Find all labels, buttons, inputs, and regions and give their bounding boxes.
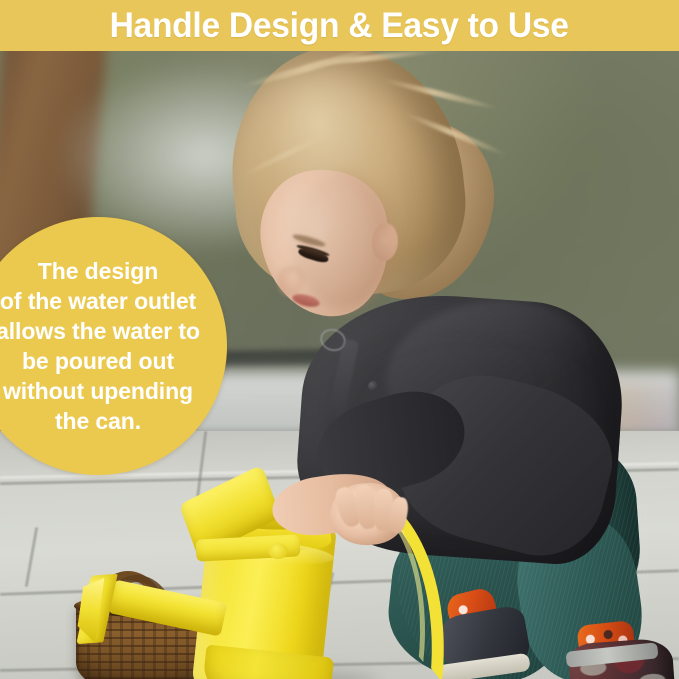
callout-line-3: allows the water to	[0, 316, 213, 346]
callout-line-6: the can.	[0, 406, 213, 436]
shirt-button	[368, 381, 378, 391]
header-banner: Handle Design & Easy to Use	[0, 0, 679, 51]
page-title: Handle Design & Easy to Use	[110, 8, 569, 43]
callout-line-4: be poured out	[0, 346, 213, 376]
product-image-card: The design of the water outlet allows th…	[0, 0, 679, 679]
callout-line-5: without upending	[0, 376, 213, 406]
product-photo: The design of the water outlet allows th…	[0, 51, 679, 679]
callout-line-1: The design	[0, 256, 213, 286]
watering-can-knob	[268, 543, 288, 559]
callout-line-2: of the water outlet	[0, 286, 213, 316]
callout-text: The design of the water outlet allows th…	[0, 256, 213, 436]
